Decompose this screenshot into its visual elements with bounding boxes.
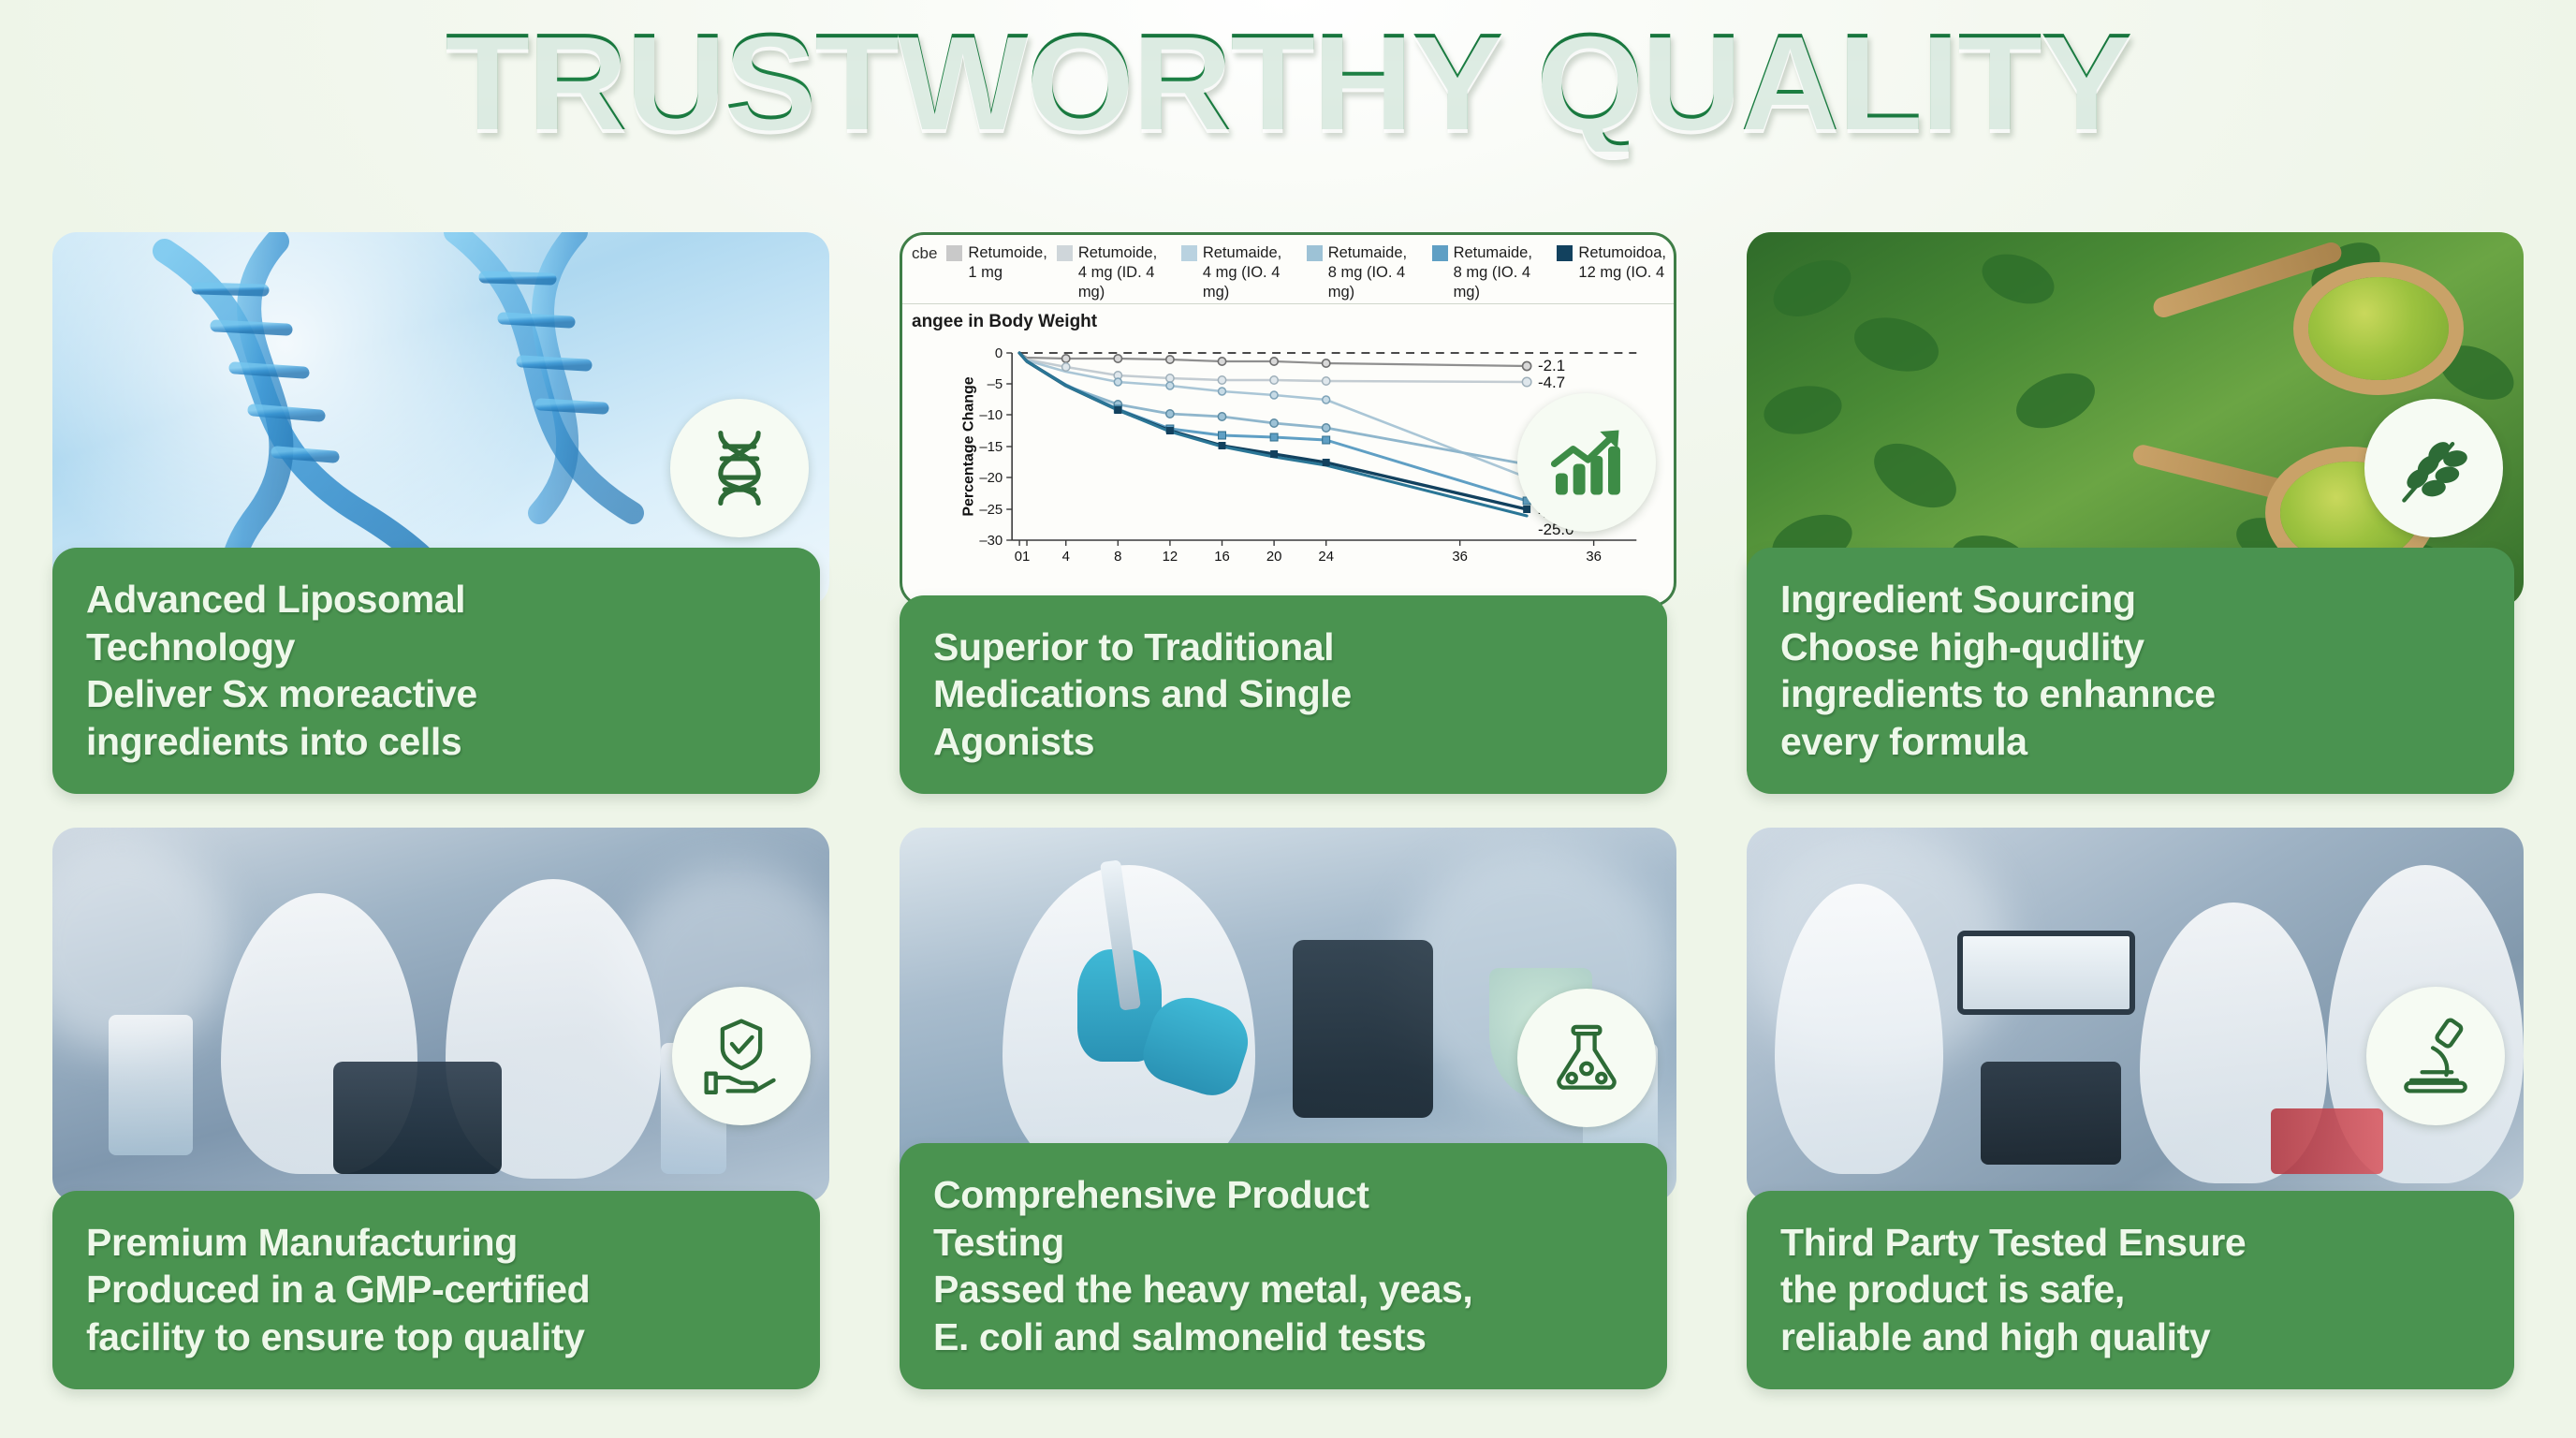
feature-card-superior-to-traditional-medications[interactable]: cbe Retumoide, 1 mg Retumoide, 4 mg (ID.… xyxy=(900,232,1676,794)
x-tick-label: 24 xyxy=(1318,549,1334,565)
legend-swatch-icon xyxy=(1557,245,1573,261)
legend-swatch-icon xyxy=(1432,245,1448,261)
card-caption-panel: Comprehensive Product Testing Passed the… xyxy=(900,1143,1667,1389)
microscope-silhouette xyxy=(1293,940,1433,1118)
monitor-silhouette xyxy=(1981,1062,2121,1165)
microscope-silhouette xyxy=(333,1062,502,1174)
x-tick-label: 36 xyxy=(1586,549,1602,565)
legend-swatch-icon xyxy=(1181,245,1197,261)
x-tick-label: 4 xyxy=(1062,549,1070,565)
x-tick-label: 16 xyxy=(1214,549,1230,565)
flask-icon xyxy=(1544,1015,1630,1101)
legend-item[interactable]: Retumoidoa, 12 mg (IO. 4 xyxy=(1557,243,1666,283)
card-caption-text: Ingredient Sourcing Choose high-qudlity … xyxy=(1780,576,2482,766)
moringa-leaf-icon-badge xyxy=(2364,399,2503,537)
y-tick-label: –30 xyxy=(979,533,1003,549)
hand-shield-check-icon xyxy=(698,1013,784,1099)
legend-item[interactable]: Retumoide, 1 mg xyxy=(946,243,1046,283)
x-tick-label: 36 xyxy=(1452,549,1468,565)
dna-icon xyxy=(696,425,783,511)
card-caption-panel: Premium Manufacturing Produced in a GMP-… xyxy=(52,1191,820,1389)
feature-card-comprehensive-product-testing[interactable]: Comprehensive Product Testing Passed the… xyxy=(900,828,1676,1389)
y-tick-label: –20 xyxy=(979,470,1003,486)
x-tick-label: 8 xyxy=(1114,549,1121,565)
title-bar: TRUSTWORTHY QUALITY xyxy=(0,0,2576,197)
card-caption-text: Superior to Traditional Medications and … xyxy=(933,624,1635,766)
growth-chart-icon xyxy=(1544,419,1630,506)
legend-label: Retumaide, 8 mg (IO. 4 mg) xyxy=(1328,243,1423,302)
chart-title: angee in Body Weight xyxy=(902,304,1674,332)
chart-legend: cbe Retumoide, 1 mg Retumoide, 4 mg (ID.… xyxy=(902,235,1674,304)
dna-icon-badge xyxy=(670,399,809,537)
hand-shield-check-icon-badge xyxy=(672,987,811,1125)
x-tick-label: 12 xyxy=(1163,549,1178,565)
legend-truncated-prefix: cbe xyxy=(912,243,937,263)
microscope-icon xyxy=(2393,1013,2479,1099)
legend-label: Retumoide, 4 mg (ID. 4 mg) xyxy=(1078,243,1172,302)
moringa-leaf-icon xyxy=(2391,425,2477,511)
legend-label: Retumaide, 8 mg (IO. 4 mg) xyxy=(1454,243,1548,302)
microscope-icon-badge xyxy=(2366,987,2505,1125)
card-caption-text: Premium Manufacturing Produced in a GMP-… xyxy=(86,1219,788,1361)
page-title: TRUSTWORTHY QUALITY xyxy=(0,13,2576,152)
moringa-powder-spoon xyxy=(2308,277,2449,380)
legend-swatch-icon xyxy=(1057,245,1073,261)
card-caption-text: Advanced Liposomal Technology Deliver Sx… xyxy=(86,576,788,766)
lab-shelf xyxy=(1957,931,2135,1015)
y-tick-label: –25 xyxy=(979,502,1003,518)
card-caption-text: Third Party Tested Ensure the product is… xyxy=(1780,1219,2482,1361)
legend-item[interactable]: Retumaide, 8 mg (IO. 4 mg) xyxy=(1307,243,1423,302)
legend-item[interactable]: Retumaide, 4 mg (IO. 4 mg) xyxy=(1181,243,1297,302)
legend-swatch-icon xyxy=(946,245,962,261)
lab-glassware xyxy=(109,1015,193,1155)
y-tick-label: 0 xyxy=(995,345,1003,361)
card-caption-text: Comprehensive Product Testing Passed the… xyxy=(933,1171,1635,1361)
flask-icon-badge xyxy=(1517,989,1656,1127)
y-tick-label: –15 xyxy=(979,439,1003,455)
legend-label: Retumoidoa, 12 mg (IO. 4 xyxy=(1578,243,1666,283)
feature-card-third-party-tested[interactable]: Third Party Tested Ensure the product is… xyxy=(1747,828,2524,1389)
sample-rack xyxy=(2271,1108,2383,1174)
feature-card-grid: Advanced Liposomal Technology Deliver Sx… xyxy=(52,232,2524,1389)
legend-item[interactable]: Retumaide, 8 mg (IO. 4 mg) xyxy=(1432,243,1548,302)
feature-card-advanced-liposomal-technology[interactable]: Advanced Liposomal Technology Deliver Sx… xyxy=(52,232,829,794)
card-caption-panel: Advanced Liposomal Technology Deliver Sx… xyxy=(52,548,820,794)
feature-card-ingredient-sourcing[interactable]: Ingredient Sourcing Choose high-qudlity … xyxy=(1747,232,2524,794)
legend-label: Retumaide, 4 mg (IO. 4 mg) xyxy=(1203,243,1297,302)
y-tick-label: –5 xyxy=(988,376,1003,392)
card-caption-panel: Ingredient Sourcing Choose high-qudlity … xyxy=(1747,548,2514,794)
endpoint-label: -4.7 xyxy=(1538,374,1565,391)
card-caption-panel: Third Party Tested Ensure the product is… xyxy=(1747,1191,2514,1389)
growth-chart-icon-badge xyxy=(1517,393,1656,532)
legend-item[interactable]: Retumoide, 4 mg (ID. 4 mg) xyxy=(1057,243,1172,302)
x-tick-label: 01 xyxy=(1015,549,1031,565)
y-axis-label: Percentage Change xyxy=(960,376,976,516)
legend-label: Retumoide, 1 mg xyxy=(968,243,1046,283)
x-tick-label: 20 xyxy=(1266,549,1282,565)
card-caption-panel: Superior to Traditional Medications and … xyxy=(900,595,1667,794)
endpoint-label: -2.1 xyxy=(1538,357,1565,374)
legend-swatch-icon xyxy=(1307,245,1323,261)
series-markers xyxy=(1062,355,1531,513)
y-tick-label: –10 xyxy=(979,407,1003,423)
feature-card-premium-manufacturing[interactable]: Premium Manufacturing Produced in a GMP-… xyxy=(52,828,829,1389)
